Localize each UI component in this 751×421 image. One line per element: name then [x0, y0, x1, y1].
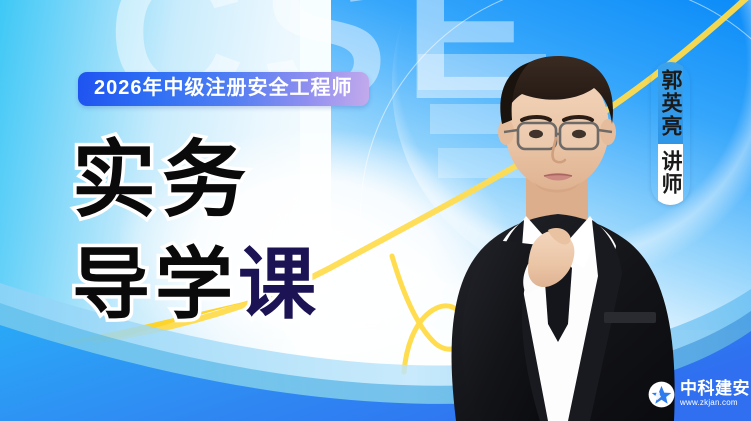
course-poster: CSE: [0, 0, 751, 421]
instructor-badge: 郭英亮 讲师: [651, 62, 690, 205]
brand-url: www.zkjan.com: [680, 397, 750, 408]
brand-name: 中科建安: [680, 380, 750, 397]
brand-logo: 中科建安 www.zkjan.com: [648, 380, 750, 408]
logo-text-block: 中科建安 www.zkjan.com: [680, 380, 750, 408]
headline-line-2-accent: 课: [238, 240, 321, 328]
headline-line-2-main: 导学: [72, 240, 238, 328]
course-tag-banner: 2026年中级注册安全工程师: [78, 72, 369, 106]
instructor-role: 讲师: [658, 144, 683, 205]
headline-line-1: 实务: [72, 138, 252, 222]
star-circle-icon: [648, 381, 675, 408]
headline-line-2: 导学课: [72, 245, 321, 323]
instructor-name: 郭英亮: [658, 62, 683, 144]
